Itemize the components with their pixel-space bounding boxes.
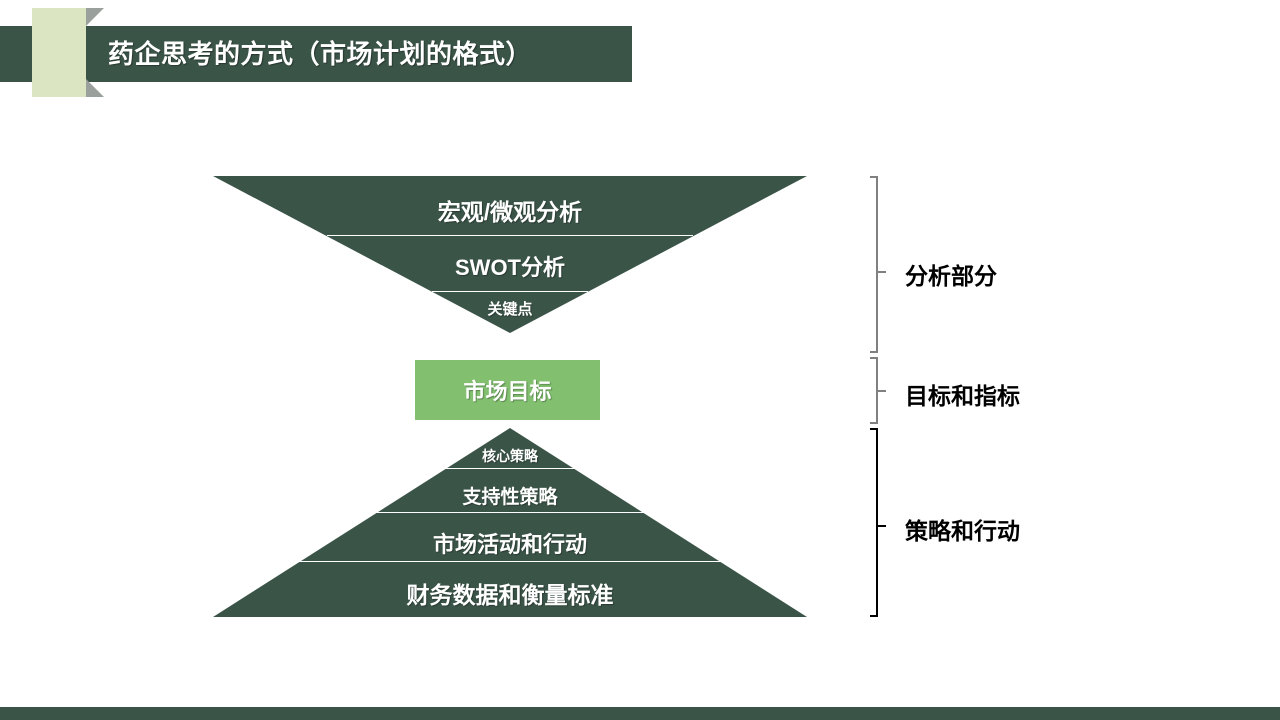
pyramid-divider-1 xyxy=(445,468,575,469)
market-goal-box: 市场目标 xyxy=(415,360,600,420)
brace-tick xyxy=(876,271,886,273)
group-label-analysis: 分析部分 xyxy=(905,257,997,291)
pyramid-divider-2 xyxy=(376,512,644,513)
brace-cap-bottom xyxy=(870,615,878,617)
brace-cap-bottom xyxy=(870,351,878,353)
pyramid-divider-3 xyxy=(299,561,721,562)
strategy-pyramid: 核心策略 支持性策略 市场活动和行动 财务数据和衡量标准 xyxy=(213,428,807,617)
funnel-level-1-label: 宏观/微观分析 xyxy=(213,193,807,227)
group-label-objectives: 目标和指标 xyxy=(905,377,1020,411)
group-label-strategy: 策略和行动 xyxy=(905,512,1020,546)
brace-tick xyxy=(876,390,886,392)
brace-tick xyxy=(876,525,886,527)
pyramid-level-2-label: 支持性策略 xyxy=(213,482,807,509)
brace-spine xyxy=(876,428,878,617)
funnel-level-2-label: SWOT分析 xyxy=(213,250,807,282)
funnel-divider-2 xyxy=(432,291,588,292)
funnel-divider-1 xyxy=(327,235,693,236)
funnel-level-3-label: 关键点 xyxy=(213,298,807,319)
header-fold-top-shadow xyxy=(86,8,104,26)
brace-cap-bottom xyxy=(870,422,878,424)
brace-spine xyxy=(876,176,878,353)
header-fold-bottom-shadow xyxy=(86,79,104,97)
header-accent-tab xyxy=(32,8,86,97)
pyramid-level-4-label: 财务数据和衡量标准 xyxy=(213,576,807,610)
page-title: 药企思考的方式（市场计划的格式） xyxy=(108,26,532,82)
market-goal-label: 市场目标 xyxy=(463,374,551,406)
pyramid-level-1-label: 核心策略 xyxy=(213,446,807,466)
analysis-funnel: 宏观/微观分析 SWOT分析 关键点 xyxy=(213,176,807,333)
pyramid-level-3-label: 市场活动和行动 xyxy=(213,527,807,559)
footer-bar xyxy=(0,707,1280,720)
